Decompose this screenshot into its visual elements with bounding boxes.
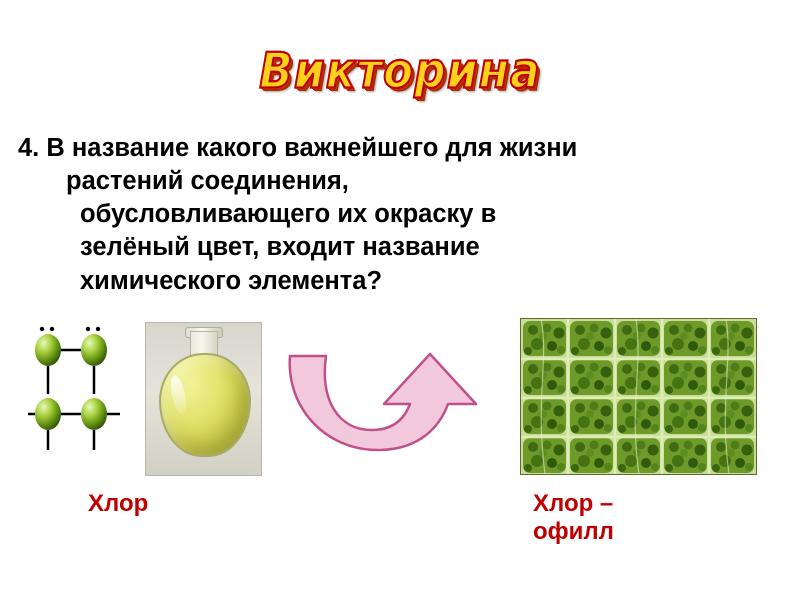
question-line-2: растений соединения,: [66, 165, 788, 198]
flask-photo: [145, 322, 262, 476]
molecule-orbital-diagram-icon: [28, 322, 148, 472]
question-text: 4. В название какого важнейшего для жизн…: [18, 132, 788, 298]
flask-body: [159, 353, 251, 457]
caption-right-line-2: офилл: [533, 518, 773, 546]
question-line-1: 4. В название какого важнейшего для жизн…: [18, 132, 788, 165]
caption-right: Хлор – офилл: [533, 490, 773, 545]
question-line-5: химического элемента?: [80, 265, 788, 298]
question-line-3: обусловливающего их окраску в: [80, 198, 788, 231]
curved-arrow-icon: [280, 348, 495, 460]
page-title: Викторина: [259, 43, 540, 100]
caption-right-line-1: Хлор –: [533, 490, 773, 518]
question-line-4: зелёный цвет, входит название: [80, 231, 788, 264]
slide-title-container: Викторина: [0, 46, 800, 97]
leaf-cells-photo: [520, 318, 757, 475]
caption-left: Хлор: [88, 490, 148, 518]
